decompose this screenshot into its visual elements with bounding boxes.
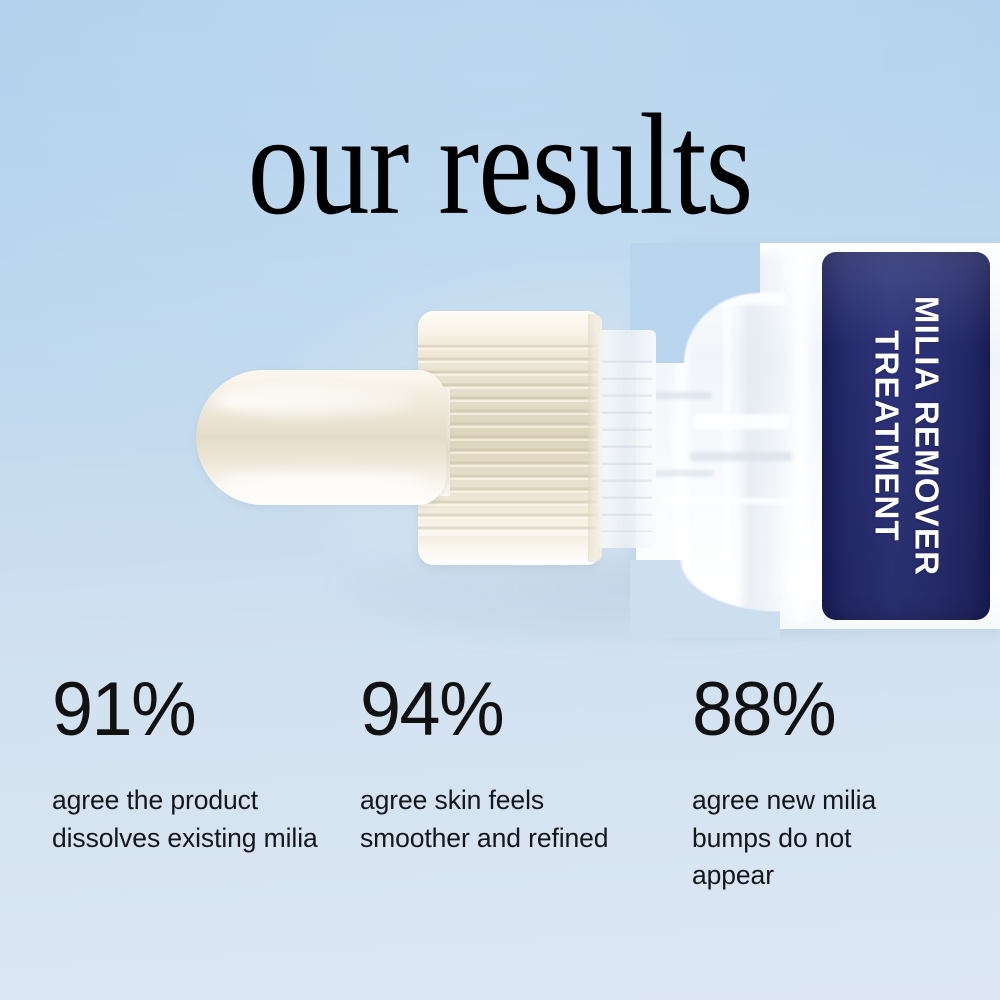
dropper-bulb: [196, 370, 446, 505]
bottle-highlight-2: [720, 252, 734, 618]
bottle-highlight-1: [668, 258, 694, 608]
bottle-collar: [596, 330, 656, 548]
stat-description-3: agree new milia bumps do not appear: [692, 782, 940, 895]
results-infographic: our results MIL: [0, 0, 1000, 1000]
dropper-bulb-highlight: [214, 386, 414, 416]
dropper-bulb-lower-highlight: [220, 472, 430, 494]
bottle-refraction-3: [690, 452, 792, 461]
bottle-refraction-1: [694, 292, 786, 305]
bottle-refraction-4: [652, 392, 712, 399]
product-shadow: [250, 520, 990, 660]
stat-description-1: agree the product dissolves existing mil…: [52, 782, 326, 857]
product-label-text: MILIA REMOVER TREATMENT: [866, 262, 947, 610]
stats-row: 91% agree the product dissolves existing…: [0, 672, 1000, 895]
stat-item-2: 94% agree skin feels smoother and refine…: [340, 672, 670, 895]
background-glow: [150, 200, 970, 670]
bottle-shoulder: [630, 243, 760, 363]
bottle-body: [636, 243, 1000, 629]
dropper-bulb-neck: [380, 388, 450, 496]
stat-item-3: 88% agree new milia bumps do not appear: [670, 672, 1000, 895]
bottle-shading: [744, 254, 784, 614]
bottle-refraction-6: [660, 498, 790, 504]
product-label-sheen: [822, 252, 990, 620]
stat-value-1: 91%: [52, 672, 318, 748]
dropper-cap: [418, 311, 598, 565]
bottle-collar-ribs: [600, 346, 652, 532]
dropper-cap-top: [418, 311, 598, 345]
stat-item-1: 91% agree the product dissolves existing…: [0, 672, 340, 895]
bottle-refraction-2: [694, 414, 790, 429]
stat-value-3: 88%: [692, 672, 977, 748]
stat-value-2: 94%: [360, 672, 647, 748]
stat-description-2: agree skin feels smoother and refined: [360, 782, 610, 857]
bottle-refraction-5: [648, 470, 714, 476]
product-label-line-2: TREATMENT: [866, 262, 906, 610]
page-title: our results: [20, 92, 980, 237]
bottle-highlight-3: [786, 250, 816, 622]
product-label: MILIA REMOVER TREATMENT: [822, 252, 990, 620]
dropper-cap-bottom: [418, 536, 598, 565]
product-label-line-1: MILIA REMOVER: [906, 262, 946, 610]
bottle-base-curve: [630, 560, 780, 638]
dropper-cap-edge: [588, 314, 602, 562]
